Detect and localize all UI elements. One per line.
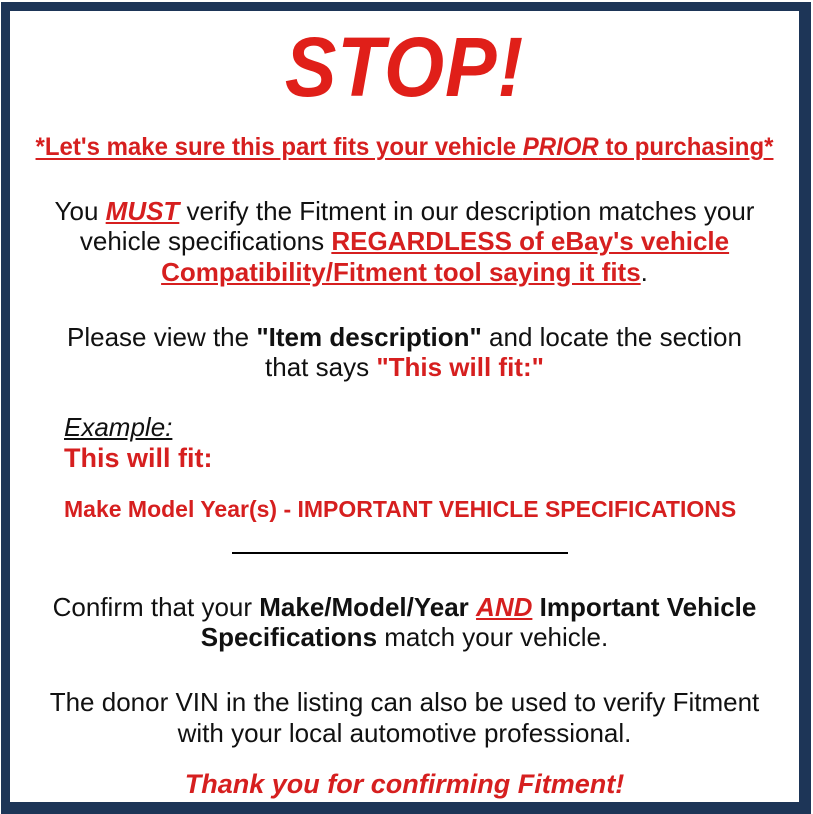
confirm-paragraph: Confirm that your Make/Model/Year AND Im… [20, 592, 789, 653]
must-text-part-3: . [641, 257, 648, 287]
tagline-suffix: to purchasing* [599, 133, 774, 161]
tagline-prior-emphasis: PRIOR [523, 133, 599, 161]
stop-heading: STOP! [51, 25, 758, 109]
item-description-emphasis: "Item description" [256, 322, 481, 352]
confirm-text-part-2 [469, 592, 476, 622]
must-emphasis: MUST [106, 196, 180, 226]
example-fit-line: This will fit: [64, 443, 789, 474]
notice-border: STOP! *Let's make sure this part fits yo… [1, 2, 811, 814]
item-description-paragraph: Please view the "Item description" and l… [20, 322, 789, 383]
donor-vin-paragraph: The donor VIN in the listing can also be… [20, 687, 789, 748]
thank-you-line: Thank you for confirming Fitment! [20, 770, 789, 800]
notice-body: STOP! *Let's make sure this part fits yo… [10, 25, 799, 814]
and-emphasis: AND [476, 592, 532, 622]
confirm-text-part-1: Confirm that your [53, 592, 260, 622]
must-text-part-1: You [55, 196, 106, 226]
tagline-prefix: *Let's make sure this part fits your veh… [36, 133, 523, 161]
fitment-tagline: *Let's make sure this part fits your veh… [35, 134, 773, 162]
horizontal-divider [232, 552, 568, 554]
confirm-text-part-3 [532, 592, 539, 622]
make-model-year-emphasis: Make/Model/Year [259, 592, 469, 622]
must-verify-paragraph: You MUST verify the Fitment in our descr… [20, 196, 789, 288]
example-block: Example: This will fit: Make Model Year(… [20, 413, 789, 522]
divider-wrapper [20, 544, 789, 562]
this-will-fit-emphasis: "This will fit:" [376, 352, 544, 382]
example-label: Example: [64, 413, 789, 442]
example-spec-line: Make Model Year(s) - IMPORTANT VEHICLE S… [64, 497, 789, 522]
confirm-text-part-4: match your vehicle. [377, 622, 608, 652]
view-text-part-1: Please view the [67, 322, 256, 352]
notice-frame: STOP! *Let's make sure this part fits yo… [0, 0, 813, 814]
